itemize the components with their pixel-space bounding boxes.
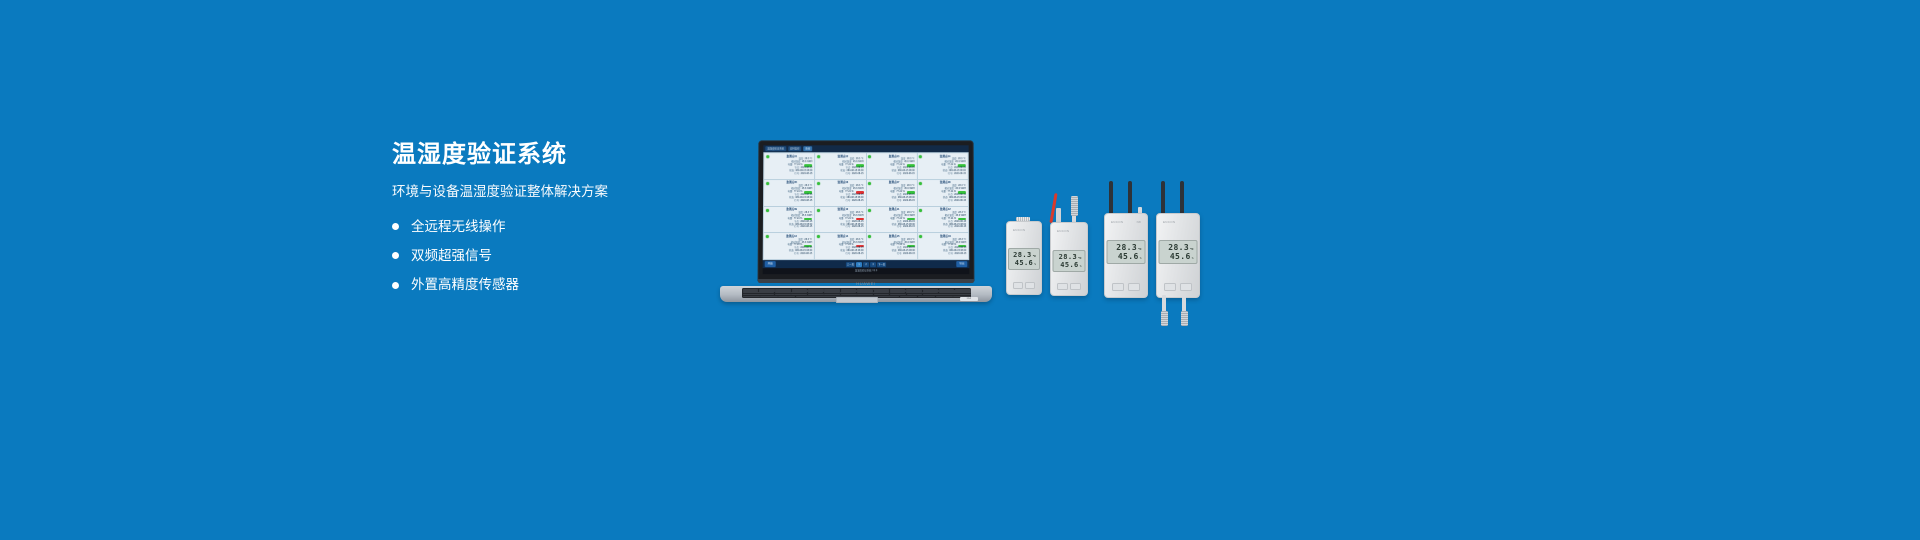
status-indicator-icon: [766, 182, 769, 185]
device-brand-label: ENCON: [1057, 229, 1069, 233]
monitor-card-field: 行号:2020-08-15: [925, 173, 966, 176]
field-label: 电量:: [890, 245, 895, 248]
field-label: 电量:: [941, 164, 946, 167]
temperature-reading: 28.3℃: [1059, 253, 1082, 261]
probe-sensor-head: [1181, 311, 1188, 326]
field-value: 2020-08-15: [903, 200, 915, 203]
field-value: 2020-08-15: [800, 253, 812, 256]
temperature-reading: 28.3℃: [1013, 251, 1036, 259]
feature-label: 双频超强信号: [411, 248, 492, 264]
device-button-right[interactable]: [1025, 282, 1035, 289]
banner-copy: 温湿度验证系统 环境与设备温湿度验证整体解决方案 全远程无线操作 双频超强信号 …: [392, 142, 722, 306]
laptop-base: intel: [720, 286, 992, 302]
device-button-left[interactable]: [1164, 283, 1176, 291]
monitor-card-field: 行号:2020-08-15: [771, 173, 812, 176]
tab-system[interactable]: 温湿度验证系统: [765, 146, 786, 151]
antenna-icon: [1161, 181, 1165, 215]
status-indicator-icon: [817, 235, 820, 238]
monitor-card[interactable]: 监测点01温度:28.3 ℃相对湿度:45.6 %RH电量:77.24 %节点:…: [764, 153, 814, 179]
field-label: 行号:: [794, 173, 799, 176]
field-label: 行号:: [897, 200, 902, 203]
humidity-reading: 45.6%: [1118, 252, 1142, 261]
status-indicator-icon: [868, 182, 871, 185]
list-item: 全远程无线操作: [392, 219, 722, 235]
field-label: 行号:: [948, 253, 953, 256]
field-value: 2020-08-15: [954, 253, 966, 256]
monitor-card-field: 行号:2020-08-15: [771, 226, 812, 229]
monitor-card-title: 监测点10: [822, 208, 863, 211]
field-value: 2020-08-15: [852, 226, 864, 229]
field-label: 电量:: [890, 164, 895, 167]
field-label: 行号:: [897, 226, 902, 229]
device-button-left[interactable]: [1057, 283, 1068, 290]
device-lcd-display: 28.3℃ 45.6%: [1008, 248, 1040, 270]
device-wireless-logger-right: ENCON 28.3℃ 45.6%: [1156, 213, 1198, 296]
humidity-reading: 45.6%: [1060, 261, 1081, 269]
feature-list: 全远程无线操作 双频超强信号 外置高精度传感器: [392, 219, 722, 294]
page-subtitle: 环境与设备温湿度验证整体解决方案: [392, 184, 722, 200]
device-button-right[interactable]: [1128, 283, 1140, 291]
field-label: 行号:: [845, 253, 850, 256]
bullet-dot-icon: [392, 282, 399, 289]
monitor-card[interactable]: 监测点07温度:28.3 ℃相对湿度:45.6 %RH电量:77.24 %节点:…: [866, 180, 916, 206]
field-value: 2020-08-15: [801, 173, 813, 176]
monitor-card-field: 行号:2020-08-15: [874, 253, 915, 256]
field-label: 电量:: [941, 218, 946, 221]
banner-stage: 温湿度验证系统 环境与设备温湿度验证整体解决方案 全远程无线操作 双频超强信号 …: [0, 0, 1920, 540]
status-indicator-icon: [817, 209, 820, 212]
status-indicator-icon: [868, 155, 871, 158]
device-body: ENCON 28.3℃ 45.6%: [1050, 222, 1088, 296]
pagination-page-2[interactable]: 2: [863, 262, 869, 267]
tab-data[interactable]: 数据: [804, 146, 813, 151]
monitor-card-field: 行号:2020-08-15: [873, 200, 914, 203]
monitor-card[interactable]: 监测点05温度:28.3 ℃相对湿度:45.6 %RH电量:77.24 %节点:…: [764, 180, 814, 206]
pagination-page-3[interactable]: 3: [870, 262, 876, 267]
field-label: 电量:: [839, 191, 844, 194]
field-value: 2020-08-15: [852, 253, 864, 256]
device-wall-mount-logger: ENCON 28.3℃ 45.6%: [1006, 221, 1040, 293]
feature-label: 外置高精度传感器: [411, 277, 519, 293]
field-label: 电量:: [941, 191, 946, 194]
page-title: 温湿度验证系统: [392, 142, 722, 168]
field-value: 2020-08-15: [852, 200, 864, 203]
list-item: 外置高精度传感器: [392, 277, 722, 293]
status-indicator-icon: [817, 182, 820, 185]
status-indicator-icon: [817, 155, 820, 158]
laptop-lid: 温湿度验证系统 实时监控 数据 监测点01温度:28.3 ℃相对湿度:45.6 …: [758, 140, 975, 281]
laptop-screen: 温湿度验证系统 实时监控 数据 监测点01温度:28.3 ℃相对湿度:45.6 …: [763, 145, 970, 274]
field-label: 行号:: [897, 253, 902, 256]
field-label: 电量:: [839, 245, 844, 248]
field-label: 电量:: [941, 245, 946, 248]
device-body: ENCON N8 28.3℃ 45.6%: [1104, 213, 1148, 298]
tab-monitor[interactable]: 实时监控: [788, 146, 802, 151]
antenna-icon: [1128, 181, 1132, 215]
monitor-card-title: 监测点14: [822, 235, 863, 238]
monitor-card[interactable]: 监测点16温度:28.3 ℃相对湿度:45.6 %RH电量:77.24 %节点:…: [918, 233, 968, 259]
probe-sensor-head: [1161, 311, 1168, 326]
start-button[interactable]: 开始: [765, 261, 776, 267]
status-indicator-icon: [919, 182, 922, 185]
device-probe-logger: ENCON 28.3℃ 45.6%: [1050, 222, 1086, 294]
field-value: 2020-08-15: [954, 226, 966, 229]
field-value: 2020-08-15: [852, 173, 864, 176]
field-value: 2020-08-15: [801, 200, 813, 203]
monitor-card[interactable]: 监测点12温度:28.3 ℃相对湿度:45.6 %RH电量:77.24 %节点:…: [918, 207, 968, 233]
monitor-card[interactable]: 监测点15温度:28.3 ℃相对湿度:45.6 %RH电量:77.24 %节点:…: [867, 233, 917, 259]
monitor-card-field: 行号:2020-08-15: [925, 226, 966, 229]
field-value: 2020-08-15: [800, 226, 812, 229]
field-label: 行号:: [846, 173, 851, 176]
field-label: 行号:: [897, 173, 902, 176]
monitor-card-grid: 监测点01温度:28.3 ℃相对湿度:45.6 %RH电量:77.24 %节点:…: [763, 152, 970, 260]
monitor-card[interactable]: 监测点04温度:28.3 ℃相对湿度:45.6 %RH电量:77.24 %节点:…: [918, 153, 968, 179]
field-label: 行号:: [794, 200, 799, 203]
device-lcd-display: 28.3℃ 45.6%: [1159, 240, 1198, 264]
status-indicator-icon: [919, 155, 922, 158]
status-indicator-icon: [919, 235, 922, 238]
monitor-card-field: 行号:2020-08-15: [873, 173, 914, 176]
antenna-icon: [1109, 181, 1113, 215]
device-body: ENCON 28.3℃ 45.6%: [1156, 213, 1200, 298]
humidity-reading: 45.6%: [1170, 252, 1194, 261]
field-label: 电量:: [890, 218, 895, 221]
field-label: 电量:: [788, 164, 793, 167]
monitor-card[interactable]: 监测点02温度:28.3 ℃相对湿度:45.6 %RH电量:77.24 %节点:…: [815, 153, 865, 179]
device-lcd-display: 28.3℃ 45.6%: [1053, 250, 1086, 272]
status-bar: 温湿度验证系统 V2.0: [763, 268, 970, 274]
field-label: 电量:: [839, 218, 844, 221]
field-value: 2020-08-15: [954, 173, 966, 176]
pagination: 上一页123下一页: [846, 262, 886, 267]
monitor-card[interactable]: 监测点13温度:28.3 ℃相对湿度:45.6 %RH电量:77.24 %节点:…: [764, 233, 814, 259]
laptop-trackpad[interactable]: [836, 297, 878, 302]
app-tabbar: 温湿度验证系统 实时监控 数据: [763, 145, 968, 152]
monitor-card-field: 行号:2020-08-15: [822, 226, 863, 229]
list-item: 双频超强信号: [392, 248, 722, 264]
device-wireless-logger-left: ENCON N8 28.3℃ 45.6%: [1104, 213, 1146, 296]
feature-label: 全远程无线操作: [411, 219, 506, 235]
monitor-card-field: 行号:2020-08-15: [874, 226, 915, 229]
export-button[interactable]: 导出: [956, 261, 967, 267]
monitor-card[interactable]: 监测点03温度:28.3 ℃相对湿度:45.6 %RH电量:77.24 %节点:…: [866, 153, 916, 179]
monitor-card-field: 行号:2020-08-15: [822, 173, 863, 176]
device-button-left[interactable]: [1013, 282, 1023, 289]
field-value: 2020-08-15: [954, 200, 966, 203]
field-label: 行号:: [794, 226, 799, 229]
field-label: 行号:: [948, 200, 953, 203]
monitor-card-field: 行号:2020-08-15: [925, 253, 966, 256]
antenna-icon: [1180, 181, 1184, 215]
monitor-card[interactable]: 监测点10温度:28.3 ℃相对湿度:45.6 %RH电量:77.24 %节点:…: [815, 207, 865, 233]
field-value: 2020-08-15: [903, 253, 915, 256]
monitor-card-field: 行号:2020-08-15: [822, 253, 863, 256]
field-label: 电量:: [890, 191, 895, 194]
field-label: 行号:: [948, 226, 953, 229]
device-body: ENCON 28.3℃ 45.6%: [1006, 221, 1042, 295]
monitor-card-title: 监测点13: [771, 235, 812, 238]
device-model-label: N8: [1137, 220, 1141, 224]
field-label: 行号:: [948, 173, 953, 176]
temperature-reading: 28.3℃: [1168, 243, 1193, 252]
monitor-card[interactable]: 监测点08温度:28.3 ℃相对湿度:45.6 %RH电量:77.24 %节点:…: [918, 180, 968, 206]
device-lcd-display: 28.3℃ 45.6%: [1107, 240, 1146, 264]
monitor-card[interactable]: 监测点11温度:28.3 ℃相对湿度:45.6 %RH电量:77.24 %节点:…: [866, 207, 916, 233]
monitor-card[interactable]: 监测点14温度:28.3 ℃相对湿度:45.6 %RH电量:77.24 %节点:…: [815, 233, 865, 259]
monitor-card-field: 行号:2020-08-15: [925, 200, 966, 203]
field-label: 电量:: [787, 245, 792, 248]
field-label: 行号:: [845, 226, 850, 229]
device-brand-label: ENCON: [1111, 220, 1123, 224]
monitor-card-title: 监测点16: [925, 235, 966, 238]
field-label: 行号:: [846, 200, 851, 203]
field-label: 电量:: [788, 218, 793, 221]
temperature-reading: 28.3℃: [1116, 243, 1141, 252]
device-button-left[interactable]: [1112, 283, 1124, 291]
pagination-page-下一页[interactable]: 下一页: [877, 262, 886, 267]
monitor-card-title: 监测点09: [771, 208, 812, 211]
monitor-card-title: 监测点11: [873, 208, 914, 211]
bullet-dot-icon: [392, 252, 399, 259]
field-label: 电量:: [839, 164, 844, 167]
status-indicator-icon: [765, 209, 768, 212]
laptop-product-image: 温湿度验证系统 实时监控 数据 监测点01温度:28.3 ℃相对湿度:45.6 …: [720, 140, 992, 300]
device-button-right[interactable]: [1070, 283, 1081, 290]
pagination-page-上一页[interactable]: 上一页: [846, 262, 855, 267]
probe-sensor-head: [1071, 196, 1078, 216]
monitor-card-field: 行号:2020-08-15: [771, 200, 812, 203]
field-value: 2020-08-15: [903, 226, 915, 229]
bullet-dot-icon: [392, 223, 399, 230]
monitor-card-field: 行号:2020-08-15: [822, 200, 863, 203]
monitor-card[interactable]: 监测点06温度:28.3 ℃相对湿度:45.6 %RH电量:77.24 %节点:…: [815, 180, 865, 206]
status-indicator-icon: [765, 235, 768, 238]
monitor-card-title: 监测点12: [925, 208, 966, 211]
status-indicator-icon: [766, 155, 769, 158]
status-indicator-icon: [868, 235, 871, 238]
monitor-card-field: 行号:2020-08-15: [771, 253, 812, 256]
humidity-reading: 45.6%: [1015, 259, 1036, 267]
monitor-card[interactable]: 监测点09温度:28.3 ℃相对湿度:45.6 %RH电量:77.24 %节点:…: [764, 207, 814, 233]
device-button-right[interactable]: [1180, 283, 1192, 291]
field-value: 2020-08-15: [903, 173, 915, 176]
app-toolbar: 开始 上一页123下一页 导出: [763, 260, 970, 268]
field-label: 行号:: [794, 253, 799, 256]
field-label: 电量:: [788, 191, 793, 194]
device-brand-label: ENCON: [1163, 220, 1175, 224]
status-indicator-icon: [868, 209, 871, 212]
status-indicator-icon: [919, 209, 922, 212]
device-brand-label: ENCON: [1013, 228, 1025, 232]
base-badge: intel: [960, 297, 978, 301]
monitor-card-title: 监测点15: [874, 235, 915, 238]
pagination-page-1[interactable]: 1: [856, 262, 862, 267]
